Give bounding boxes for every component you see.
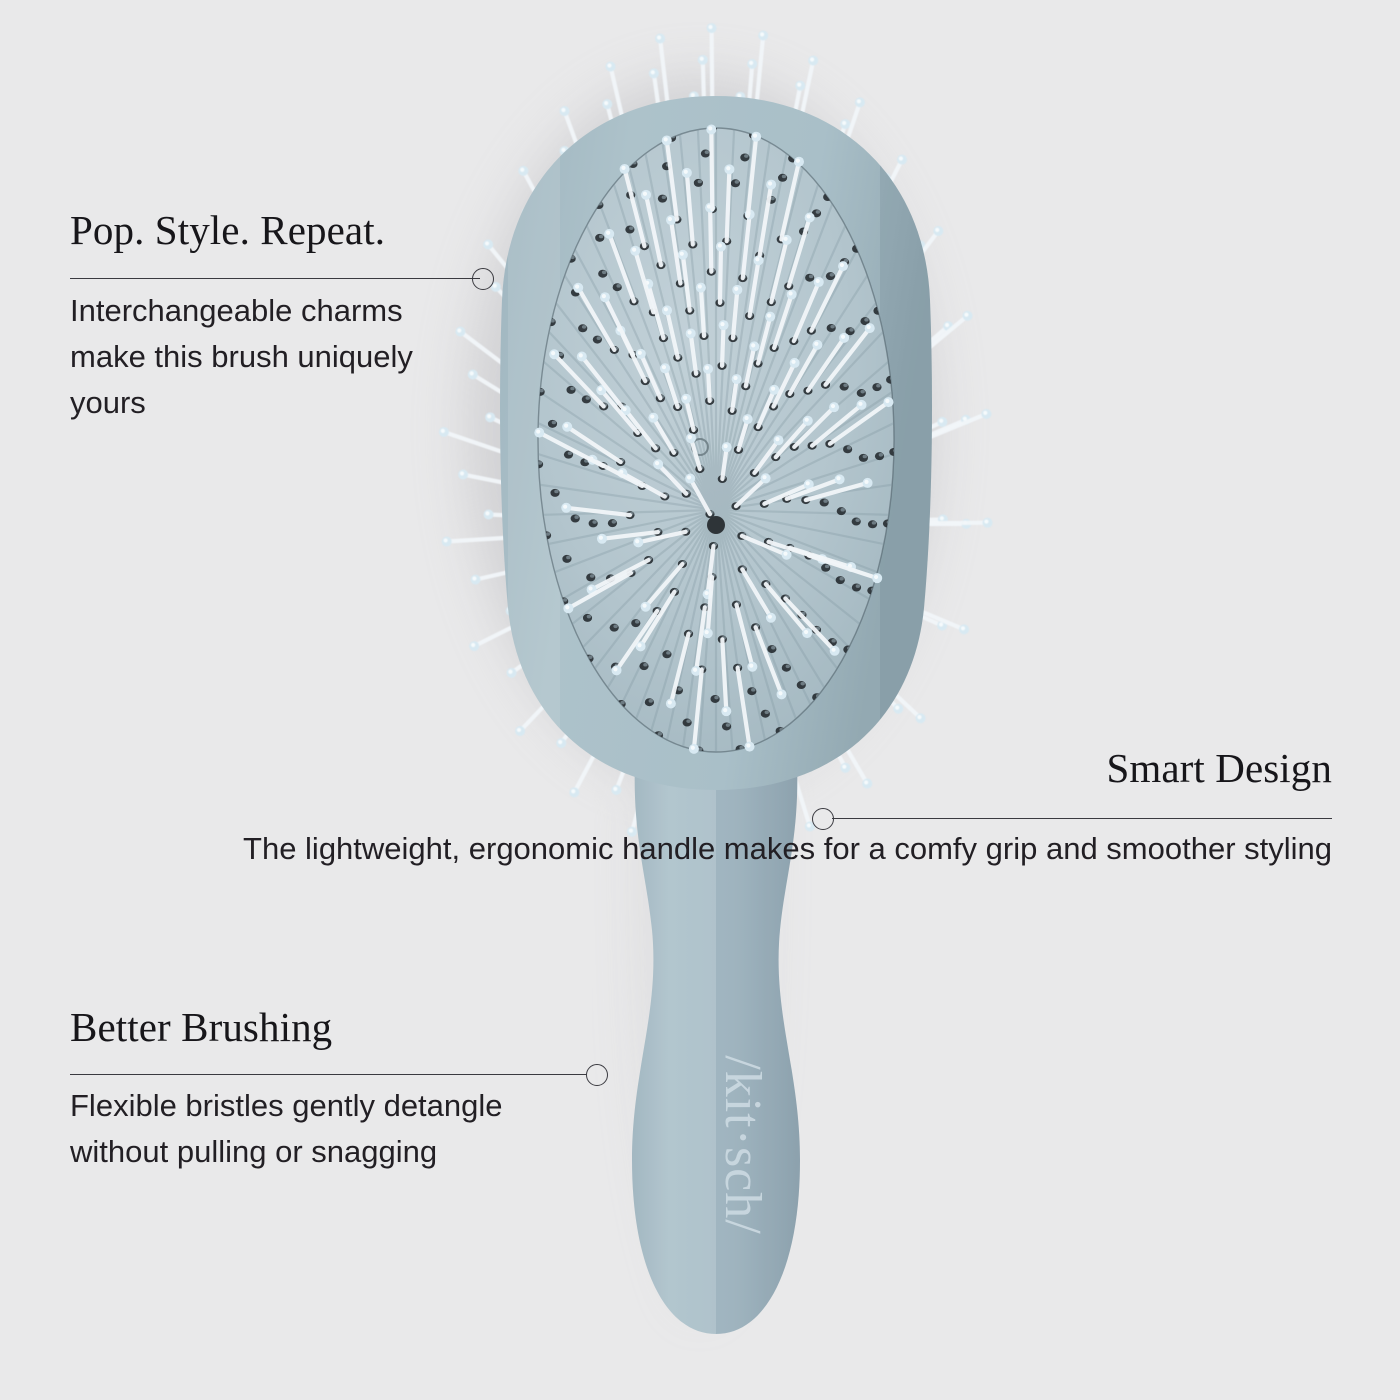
callout-charms: Pop. Style. Repeat. Interchangeable char… — [70, 206, 470, 426]
callout-bristles: Better Brushing Flexible bristles gently… — [70, 1003, 590, 1175]
center-vent-hole — [707, 516, 725, 534]
callout-bristles-rule — [70, 1074, 587, 1075]
callout-charms-heading: Pop. Style. Repeat. — [70, 206, 470, 254]
infographic-canvas: /kit·sch/ Pop. Style. Repeat. Interchang… — [0, 0, 1400, 1400]
callout-charms-body: Interchangeable charms make this brush u… — [70, 288, 470, 426]
brush-head — [494, 50, 939, 830]
callout-design: Smart Design The lightweight, ergonomic … — [243, 744, 1332, 872]
callout-design-body: The lightweight, ergonomic handle makes … — [243, 826, 1332, 872]
brand-logo: /kit·sch/ — [714, 1055, 771, 1234]
callout-design-rule — [832, 818, 1332, 819]
brand-logo-text: /kit·sch/ — [714, 1055, 771, 1234]
callout-bristles-body: Flexible bristles gently detangle withou… — [70, 1083, 590, 1175]
callout-design-node — [812, 808, 834, 830]
callout-charms-node — [472, 268, 494, 290]
callout-design-heading: Smart Design — [243, 744, 1332, 792]
callout-bristles-node — [586, 1064, 608, 1086]
callout-bristles-heading: Better Brushing — [70, 1003, 590, 1051]
callout-charms-rule — [70, 278, 480, 279]
